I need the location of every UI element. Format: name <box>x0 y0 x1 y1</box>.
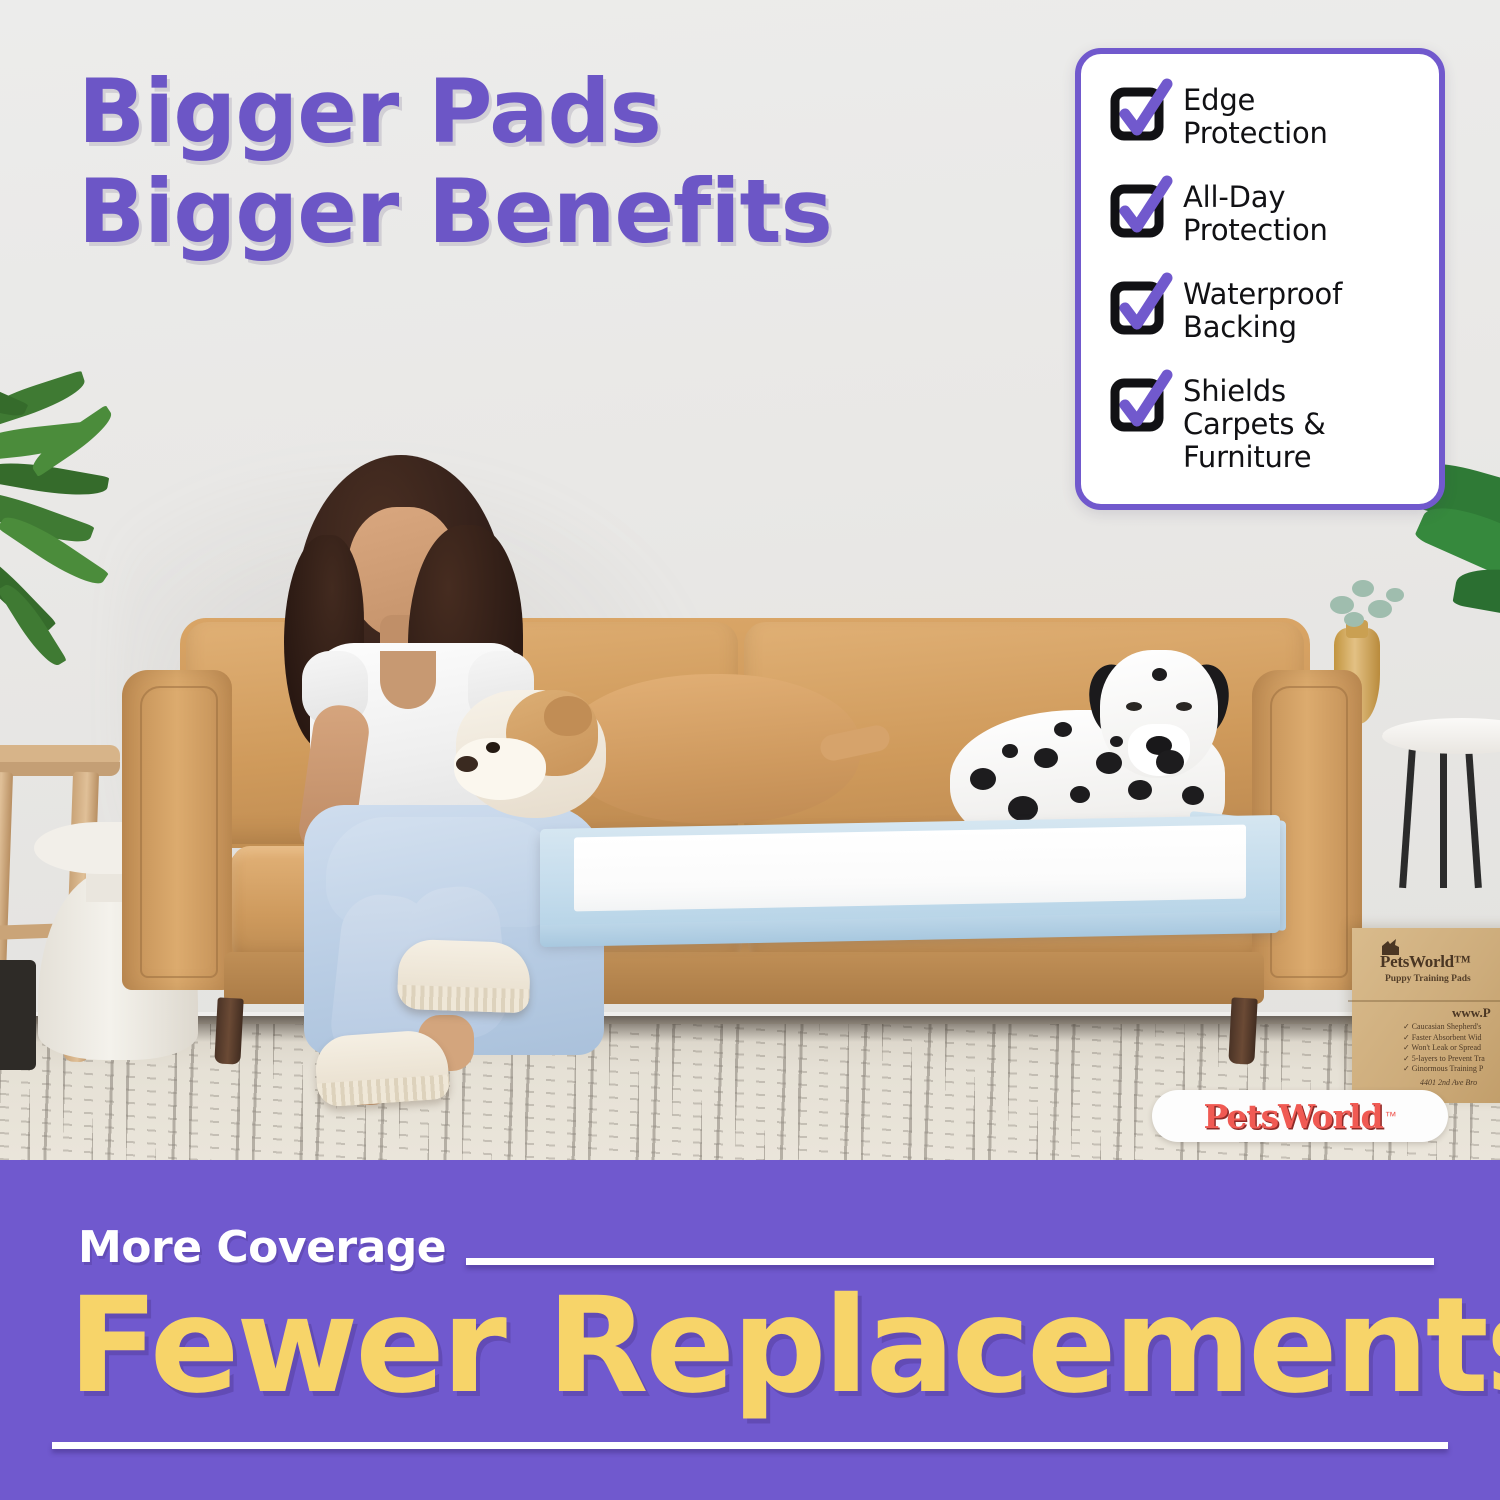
checklist-item-label: Shields Carpets & Furniture <box>1183 375 1326 474</box>
dalmatian-eye-right <box>1176 702 1192 711</box>
sofa-leg <box>1228 997 1257 1064</box>
dalmatian-spot <box>1008 796 1038 821</box>
sneaker-front <box>397 939 531 1014</box>
eucalyptus-leaf <box>1368 600 1392 618</box>
eucalyptus-leaf <box>1352 580 1374 597</box>
headline-line-2: Bigger Benefits <box>78 162 978 262</box>
box-feature: ✓ Caucasian Shepherd's <box>1403 1022 1485 1033</box>
checklist-item: Shields Carpets & Furniture <box>1097 373 1423 476</box>
side-table-leg <box>1440 748 1447 888</box>
dalmatian-spot <box>1128 780 1152 800</box>
benefits-checklist-card: Edge Protection All-Day Protection <box>1075 48 1445 510</box>
dalmatian-spot <box>1054 722 1072 737</box>
checkbox-checked-icon <box>1111 86 1167 138</box>
neckline <box>380 651 436 709</box>
box-subtitle: Puppy Training Pads <box>1385 974 1471 984</box>
dalmatian-spot <box>1152 668 1167 681</box>
dark-planter <box>0 960 36 1070</box>
box-feature: ✓ Faster Absorbent Wid <box>1403 1033 1485 1044</box>
checkbox-checked-icon <box>1111 280 1167 332</box>
sofa-arm-left <box>122 670 232 990</box>
box-feature: ✓ 5-layers to Prevent Tra <box>1403 1054 1485 1065</box>
trademark-symbol: ™ <box>1385 1109 1397 1123</box>
checklist-item: Waterproof Backing <box>1097 276 1423 346</box>
checklist-item-label: All-Day Protection <box>1183 181 1328 247</box>
dalmatian-spot <box>1096 752 1122 774</box>
training-pad <box>540 815 1280 949</box>
checklist-item-label: Edge Protection <box>1183 84 1328 150</box>
wood-stool-apron <box>0 762 120 776</box>
checklist-line: Backing <box>1183 310 1297 344</box>
dalmatian-spot <box>1182 786 1204 805</box>
banner-rule-top <box>466 1258 1434 1265</box>
checklist-line: Shields <box>1183 374 1286 408</box>
checklist-line: Waterproof <box>1183 277 1342 311</box>
bulldog-nose <box>456 756 478 772</box>
headline-line-1: Bigger Pads <box>78 60 661 163</box>
checkbox-checked-icon <box>1111 377 1167 429</box>
checklist-line: All-Day <box>1183 180 1285 214</box>
box-feature-list: ✓ Caucasian Shepherd's ✓ Faster Absorben… <box>1403 1022 1485 1075</box>
box-address: 4401 2nd Ave Bro <box>1420 1078 1477 1087</box>
dalmatian-eye-left <box>1126 702 1142 711</box>
brand-logo: PetsWorld™ <box>1152 1090 1448 1142</box>
checklist-line: Carpets & <box>1183 407 1326 441</box>
checklist-line: Edge <box>1183 83 1255 117</box>
checklist-line: Protection <box>1183 213 1328 247</box>
dalmatian-spot <box>1110 736 1123 747</box>
checklist-line: Furniture <box>1183 440 1311 474</box>
checkbox-checked-icon <box>1111 183 1167 235</box>
dalmatian-spot <box>1034 748 1058 768</box>
banner-eyebrow: More Coverage <box>78 1222 446 1273</box>
eucalyptus-leaf <box>1386 588 1404 602</box>
checklist-item: All-Day Protection <box>1097 179 1423 249</box>
bulldog-eye <box>486 742 500 753</box>
dalmatian-spot <box>1070 786 1090 803</box>
checklist-line: Protection <box>1183 116 1328 150</box>
checklist-item-label: Waterproof Backing <box>1183 278 1342 344</box>
pad-white-surface <box>574 825 1246 912</box>
dalmatian-spot <box>970 768 996 790</box>
dalmatian-spot <box>1002 744 1018 758</box>
box-feature: ✓ Won't Leak or Spread <box>1403 1043 1485 1054</box>
banner-rule-bottom <box>52 1442 1448 1449</box>
banner-headline: Fewer Replacements <box>68 1276 1468 1416</box>
box-seam <box>1348 1000 1500 1002</box>
bulldog-ear <box>544 696 592 736</box>
product-infographic: PetsWorld™ Puppy Training Pads www.P ✓ C… <box>0 0 1500 1500</box>
sneaker-back <box>314 1028 451 1107</box>
page-title: Bigger Pads Bigger Benefits <box>78 62 978 262</box>
dalmatian-spot <box>1156 750 1184 774</box>
box-website: www.P <box>1452 1005 1491 1021</box>
box-feature: ✓ Ginormous Training P <box>1403 1064 1485 1075</box>
checklist-item: Edge Protection <box>1097 82 1423 152</box>
brand-logo-text: PetsWorld <box>1203 1097 1382 1136</box>
box-brand: PetsWorld™ <box>1380 952 1471 972</box>
